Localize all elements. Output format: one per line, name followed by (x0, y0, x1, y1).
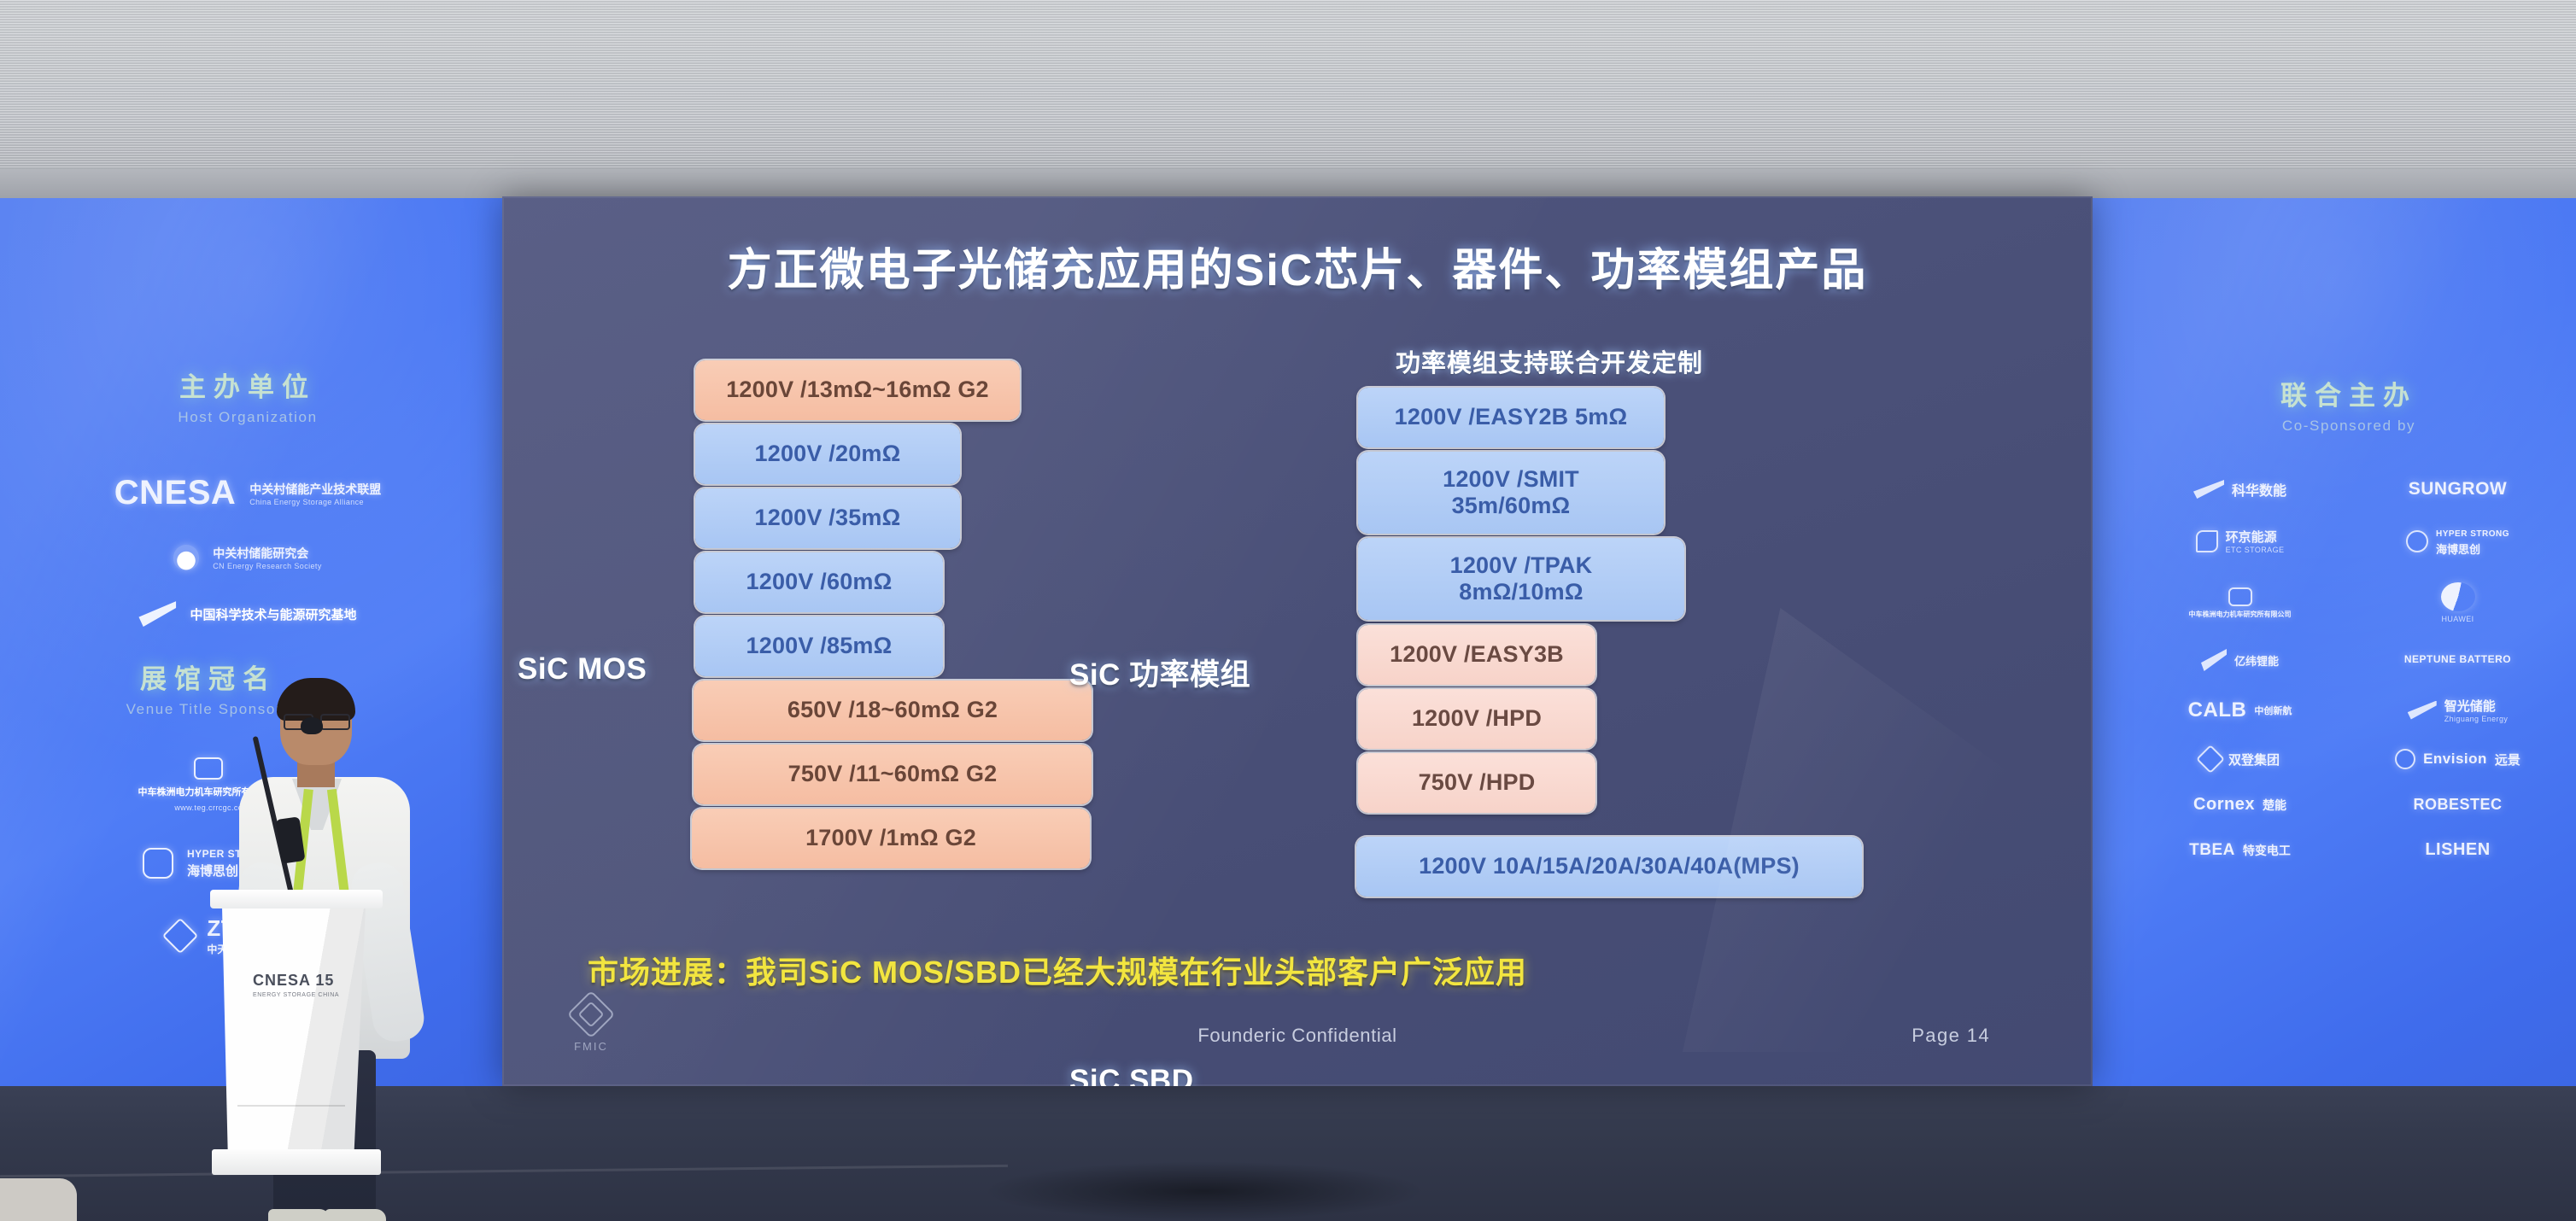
cosponsor-heading-en: Co-Sponsored by (2135, 418, 2562, 435)
logo-kehua: 科华数能 (2135, 479, 2345, 499)
logo-sungrow: SUNGROW (2353, 479, 2562, 499)
chip-mos-7[interactable]: 750V /11~60mΩ G2 (694, 745, 1092, 804)
crrc-mark-icon (194, 757, 223, 780)
chip-module-3-line2: 8mΩ/10mΩ (1459, 579, 1583, 605)
logo-cornex-word: Cornex (2193, 795, 2255, 815)
lotus-icon (173, 545, 199, 570)
chip-mos-5[interactable]: 1200V /85mΩ (695, 616, 943, 676)
microphone-head-icon (301, 717, 323, 734)
chip-module-4[interactable]: 1200V /EASY3B (1358, 625, 1595, 685)
logo-sungrow-word: SUNGROW (2409, 479, 2508, 499)
row-label-sic-mos: SiC MOS (518, 652, 647, 686)
logo-zhiguang-cn: 智光储能 (2444, 699, 2496, 714)
logo-cn-energy-research: 中关村储能研究会 CN Energy Research Society (26, 545, 470, 570)
logo-kehua-cn: 科华数能 (2232, 479, 2286, 499)
conference-stage-scene: 主办单位 Host Organization CNESA 中关村储能产业技术联盟… (0, 0, 2576, 1221)
cosponsor-panel: 联合主办 Co-Sponsored by 科华数能 SUNGROW 环京能源 E… (2135, 374, 2562, 860)
podium-brand: CNESA 15 (253, 972, 354, 990)
logo-huawei-word: HUAWEI (2441, 615, 2474, 623)
chip-mos-8[interactable]: 1700V /1mΩ G2 (692, 809, 1090, 868)
speaker-shoe-right (325, 1209, 386, 1221)
footer-page-number: Page 14 (1912, 1025, 1990, 1047)
fmic-diamond-icon (567, 990, 616, 1039)
logo-cn-energy-research-sub: CN Energy Research Society (213, 562, 321, 570)
cosponsor-heading-cn: 联合主办 (2135, 374, 2562, 412)
zhiguang-swoosh-icon (2408, 701, 2437, 720)
footer-logo-text: FMIC (557, 1040, 625, 1053)
footer-company-logo: FMIC (557, 997, 625, 1053)
podium-logo: CNESA 15 ENERGY STORAGE CHINA (253, 972, 354, 998)
podium-floor-shadow (982, 1161, 1426, 1221)
logo-eve-cn: 亿纬锂能 (2234, 652, 2279, 669)
logo-zhiguang: 智光储能 Zhiguang Energy (2353, 697, 2562, 723)
logo-crrc-2-cn: 中车株洲电力机车研究所有限公司 (2189, 610, 2292, 619)
chip-module-3-line1: 1200V /TPAK (1450, 552, 1593, 579)
logo-tbea: TBEA 特变电工 (2135, 840, 2345, 860)
chip-module-6[interactable]: 750V /HPD (1358, 753, 1595, 813)
kehua-swoosh-icon (2193, 480, 2224, 499)
host-panel-heading-en: Host Organization (26, 409, 470, 426)
logo-lishen-word: LISHEN (2425, 840, 2490, 860)
eve-swoosh-icon (2201, 649, 2227, 671)
logo-etc-storage-cn: 环京能源 (2226, 530, 2277, 545)
logo-robestec: ROBESTEC (2353, 795, 2562, 815)
logo-cnesa: CNESA 中关村储能产业技术联盟 China Energy Storage A… (26, 474, 470, 512)
shuangdeng-diamond-icon (2196, 745, 2225, 774)
logo-cn-science-energy-cn: 中国科学技术与能源研究基地 (190, 605, 356, 623)
logo-hyper-strong-2-cn: 海博思创 (2436, 540, 2509, 557)
podium-seam (237, 1105, 345, 1107)
logo-crrc-sub: www.teg.crrcgc.cc (174, 803, 242, 812)
logo-lishen: LISHEN (2353, 840, 2562, 860)
footer-confidential: Founderic Confidential (502, 1025, 2093, 1047)
logo-huawei: HUAWEI (2353, 582, 2562, 623)
chip-mos-1[interactable]: 1200V /13mΩ~16mΩ G2 (695, 360, 1020, 420)
logo-cnesa-sub: China Energy Storage Alliance (249, 498, 381, 506)
logo-battero-word: NEPTUNE BATTERO (2404, 653, 2511, 667)
chip-module-1[interactable]: 1200V /EASY2B 5mΩ (1358, 388, 1664, 447)
chip-module-2-line2: 35m/60mΩ (1452, 493, 1571, 519)
hexagon-icon (143, 848, 173, 879)
diamond-icon (162, 918, 198, 954)
speaker-shoe-left (268, 1209, 330, 1221)
logo-hyper-strong-2-word: HYPER STRONG (2436, 529, 2509, 539)
logo-etc-storage: 环京能源 ETC STORAGE (2135, 525, 2345, 557)
huawei-petal-icon (2441, 582, 2475, 611)
logo-calb: CALB 中创新航 (2135, 697, 2345, 723)
podium-base (212, 1149, 381, 1175)
logo-calb-cn: 中创新航 (2254, 704, 2292, 717)
logo-cnesa-word: CNESA (114, 474, 237, 512)
logo-tbea-word: TBEA (2189, 841, 2235, 860)
chip-mos-3[interactable]: 1200V /35mΩ (695, 488, 960, 548)
module-column-header: 功率模组支持联合开发定制 (1344, 343, 1754, 379)
podium: CNESA 15 ENERGY STORAGE CHINA (215, 890, 378, 1185)
logo-robestec-word: ROBESTEC (2413, 796, 2502, 814)
logo-calb-word: CALB (2188, 698, 2247, 722)
logo-battero: NEPTUNE BATTERO (2353, 649, 2562, 671)
host-organization-panel: 主办单位 Host Organization CNESA 中关村储能产业技术联盟… (26, 365, 470, 627)
logo-envision-word: Envision (2423, 751, 2487, 768)
slide-title: 方正微电子光储充应用的SiC芯片、器件、功率模组产品 (502, 234, 2093, 298)
logo-envision-cn: 远景 (2495, 751, 2520, 768)
row-label-sic-sbd: SiC SBD (1069, 1064, 1193, 1086)
chip-mos-2[interactable]: 1200V /20mΩ (695, 424, 960, 484)
stage-chair (0, 1178, 77, 1221)
logo-shuangdeng-cn: 双登集团 (2228, 751, 2280, 768)
chip-mos-6[interactable]: 650V /18~60mΩ G2 (694, 681, 1092, 740)
logo-envision: Envision 远景 (2353, 749, 2562, 769)
chip-module-3[interactable]: 1200V /TPAK 8mΩ/10mΩ (1358, 538, 1684, 620)
projected-slide: 方正微电子光储充应用的SiC芯片、器件、功率模组产品 SiC MOS 1200V… (502, 196, 2093, 1086)
logo-etc-storage-sub: ETC STORAGE (2226, 546, 2285, 554)
chip-module-5[interactable]: 1200V /HPD (1358, 689, 1595, 749)
podium-top (210, 890, 383, 908)
logo-cn-science-energy: 中国科学技术与能源研究基地 (26, 601, 470, 627)
crrc-mark-icon-2 (2228, 587, 2252, 606)
chip-module-2-line1: 1200V /SMIT (1443, 466, 1579, 493)
logo-zhiguang-sub: Zhiguang Energy (2444, 715, 2509, 723)
logo-cnesa-cn: 中关村储能产业技术联盟 (249, 482, 381, 496)
chip-module-2[interactable]: 1200V /SMIT 35m/60mΩ (1358, 452, 1664, 534)
chip-mos-4[interactable]: 1200V /60mΩ (695, 552, 943, 612)
market-progress-note: 市场进展：我司SiC MOS/SBD已经大规模在行业头部客户广泛应用 (588, 948, 2023, 992)
logo-hyper-strong-2: HYPER STRONG 海博思创 (2353, 525, 2562, 557)
logo-cornex: Cornex 楚能 (2135, 795, 2345, 815)
logo-tbea-cn: 特变电工 (2243, 842, 2291, 859)
envision-globe-icon (2395, 749, 2415, 769)
logo-eve: 亿纬锂能 (2135, 649, 2345, 671)
etc-mark-icon (2196, 530, 2218, 552)
logo-cornex-cn: 楚能 (2263, 797, 2286, 814)
swoosh-icon (138, 601, 176, 627)
logo-crrc-2: 中车株洲电力机车研究所有限公司 (2135, 582, 2345, 623)
logo-shuangdeng: 双登集团 (2135, 749, 2345, 769)
ceiling-seam (0, 169, 2576, 198)
host-panel-heading-cn: 主办单位 (26, 365, 470, 404)
logo-cn-energy-research-cn: 中关村储能研究会 (213, 546, 308, 560)
hyper-strong-round-icon (2406, 530, 2428, 552)
podium-tagline: ENERGY STORAGE CHINA (253, 992, 354, 998)
row-label-sic-module: SiC 功率模组 (1069, 651, 1250, 694)
chip-sbd-1[interactable]: 1200V 10A/15A/20A/30A/40A(MPS) (1356, 837, 1862, 897)
podium-body (222, 907, 366, 1153)
